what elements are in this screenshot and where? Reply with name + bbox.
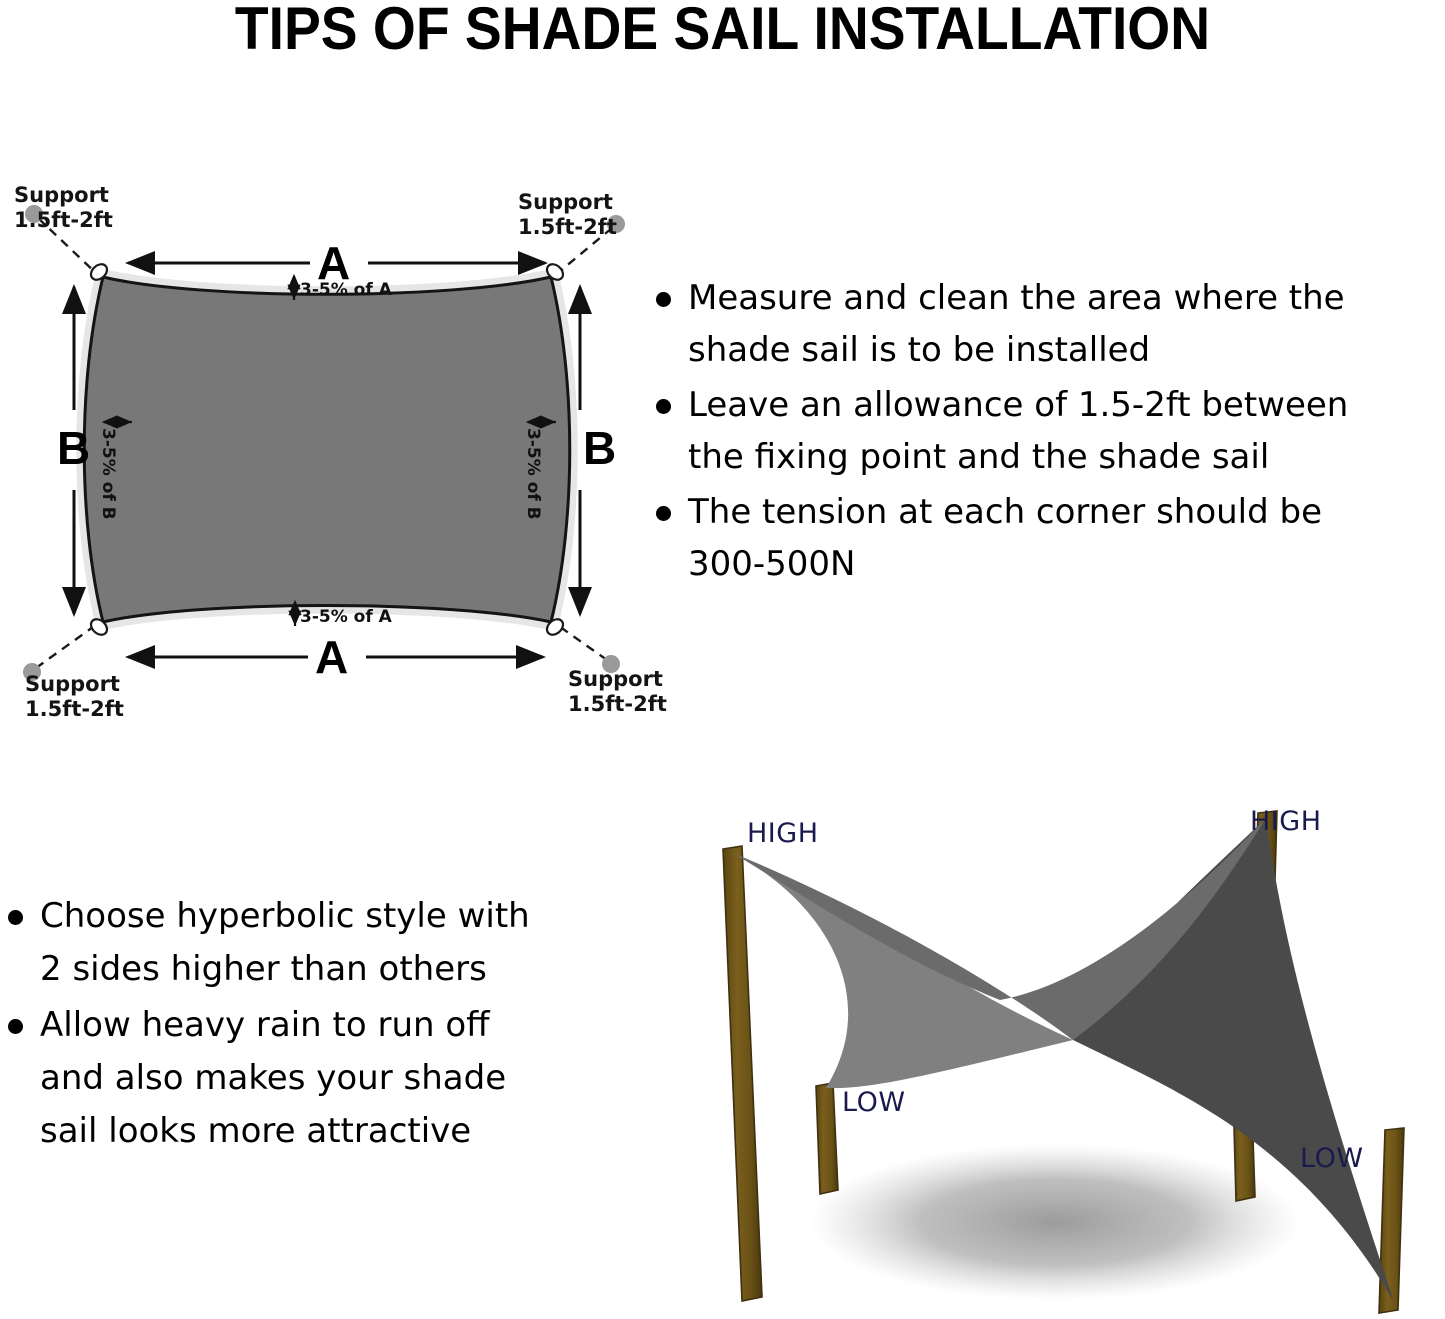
label-low-left: LOW: [842, 1087, 906, 1118]
tip-line: and also makes your shade: [40, 1058, 506, 1098]
post-high-right: [1251, 811, 1277, 1021]
curvature-label-bottom: 3-5% of A: [300, 607, 392, 627]
tip-line: Measure and clean the area where the: [688, 278, 1345, 318]
tip-line: the fixing point and the shade sail: [688, 437, 1269, 477]
tips-list-bottom: Choose hyperbolic style with 2 sides hig…: [0, 890, 620, 1161]
curvature-label-top: 3-5% of A: [300, 280, 392, 300]
post-low-right: [1232, 1050, 1255, 1201]
tip-line: Allow heavy rain to run off: [40, 1005, 490, 1045]
ground-shadow: [810, 1144, 1300, 1300]
corner-eyelets: [88, 261, 566, 638]
curvature-indicators: [104, 276, 556, 626]
shade-sail-body: [84, 277, 570, 622]
tip-line: shade sail is to be installed: [688, 330, 1150, 370]
tip-line: The tension at each corner should be: [688, 492, 1322, 532]
list-item: Choose hyperbolic style with 2 sides hig…: [0, 890, 620, 996]
sail-panel-dark: [1073, 818, 1394, 1302]
infographic-page: TIPS OF SHADE SAIL INSTALLATION: [0, 0, 1445, 1319]
list-item: The tension at each corner should be 300…: [648, 486, 1445, 590]
post-low-left: [816, 1083, 838, 1194]
support-label-line2: 1.5ft-2ft: [25, 697, 124, 721]
list-item: Allow heavy rain to run off and also mak…: [0, 999, 620, 1158]
tips-list-top: Measure and clean the area where the sha…: [648, 272, 1445, 593]
support-label-bottom-right: Support1.5ft-2ft: [568, 667, 667, 717]
tip-line: 2 sides higher than others: [40, 949, 487, 989]
post-high-left: [723, 846, 762, 1301]
list-item: Leave an allowance of 1.5-2ft between th…: [648, 379, 1445, 483]
curvature-label-right: 3-5% of B: [523, 428, 543, 520]
bullet-dot-icon: [656, 292, 671, 307]
support-label-line1: Support: [14, 183, 109, 207]
sail-saddle-overlap: [733, 818, 1266, 1040]
post-far-right: [1379, 1128, 1404, 1313]
label-high-right: HIGH: [1250, 806, 1322, 837]
bullet-dot-icon: [656, 399, 671, 414]
dimension-letter-b-left: B: [57, 425, 90, 471]
page-title: TIPS OF SHADE SAIL INSTALLATION: [58, 0, 1387, 63]
support-label-line2: 1.5ft-2ft: [14, 208, 113, 232]
label-high-left: HIGH: [747, 818, 819, 849]
dimension-letter-a-bottom: A: [315, 634, 348, 680]
tip-line: Choose hyperbolic style with: [40, 896, 530, 936]
bullet-dot-icon: [8, 1019, 23, 1034]
curvature-label-left: 3-5% of B: [98, 428, 118, 520]
support-label-line1: Support: [518, 190, 613, 214]
bullet-dot-icon: [8, 910, 23, 925]
sail-panel-light: [733, 853, 1073, 1088]
tip-line: sail looks more attractive: [40, 1111, 471, 1151]
support-label-top-left: Support1.5ft-2ft: [14, 183, 113, 233]
support-label-line1: Support: [568, 667, 663, 691]
tip-line: Leave an allowance of 1.5-2ft between: [688, 385, 1348, 425]
support-label-bottom-left: Support1.5ft-2ft: [25, 672, 124, 722]
dimension-letter-b-right: B: [583, 425, 616, 471]
tip-line: 300-500N: [688, 544, 856, 584]
label-low-right: LOW: [1300, 1143, 1364, 1174]
support-label-line2: 1.5ft-2ft: [568, 692, 667, 716]
support-label-line1: Support: [25, 672, 120, 696]
support-label-top-right: Support1.5ft-2ft: [518, 190, 617, 240]
support-label-line2: 1.5ft-2ft: [518, 215, 617, 239]
sail-edge-highlight: [84, 277, 570, 622]
bullet-dot-icon: [656, 506, 671, 521]
list-item: Measure and clean the area where the sha…: [648, 272, 1445, 376]
